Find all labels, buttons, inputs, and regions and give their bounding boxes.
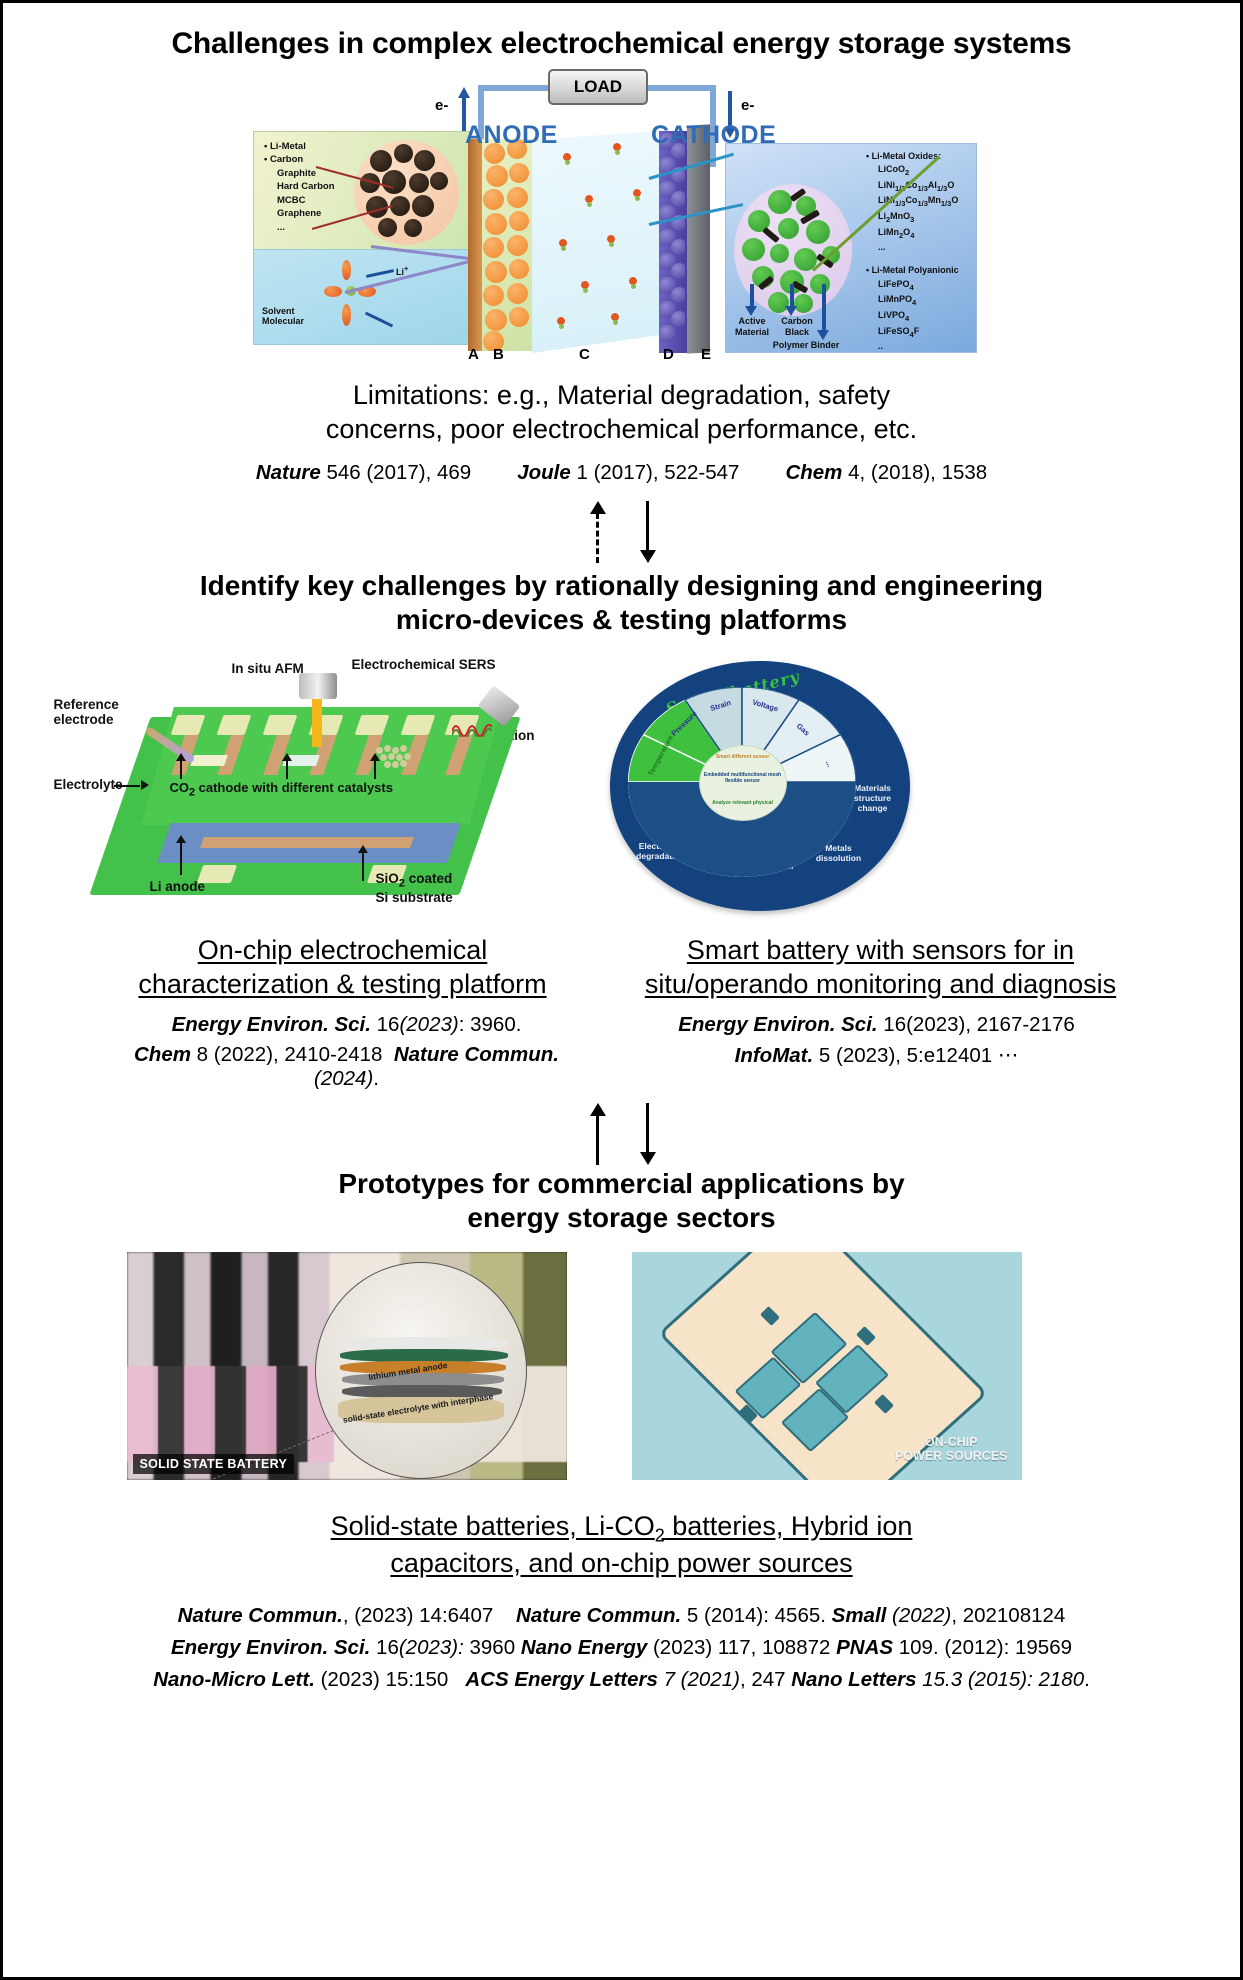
carbon-black-label: CarbonBlack [776,316,818,338]
axis-letter-a: A [468,346,479,363]
flow-arrows-2 [3,1103,1240,1165]
afm-tip-icon [299,673,337,699]
citation-joule: Joule 1 (2017), 522-547 [517,461,739,485]
hub-text-2: Embedded multifunctional mesh flexible s… [700,772,786,785]
section2-citation-row1: Energy Environ. Sci. 16(2023): 3960. Ene… [3,1013,1240,1037]
cathode-particles [659,131,685,353]
arrow-down-solid-1 [639,501,655,563]
section1-caption-line1: Limitations: e.g., Material degradation,… [3,379,1240,413]
caption-right-line2: situ/operando monitoring and diagnosis [626,968,1136,1002]
axis-letter-d: D [663,346,674,363]
electrolyte-label: Electrolyte [54,777,123,793]
axis-letter-b: B [493,346,504,363]
section3-heading-line1: Prototypes for commercial applications b… [3,1167,1240,1201]
reference-electrode-label: Referenceelectrode [54,697,119,728]
flow-arrows-1 [3,501,1240,563]
section3-caption-line2: capacitors, and on-chip power sources [3,1547,1240,1581]
cite-row-3: Nano-Micro Lett. (2023) 15:150 ACS Energ… [3,1664,1240,1696]
solid-state-battery-photo: lithium metal anode solid-state electrol… [127,1252,567,1480]
cathode-mat-9: LiFeSO4F [866,325,976,341]
cathode-group1-title: Li-Metal Oxides: [866,150,976,163]
circuit-wire-top-right [638,85,716,91]
solvent-label: SolventMolecular [262,306,304,326]
substrate-label: SiO2 coatedSi substrate [376,871,453,906]
electron-label-right: e- [741,97,754,114]
arrow-up-solid-2 [589,1103,605,1165]
cathode-materials-panel: Li-Metal Oxides: LiCoO2 LiNi1/3Co1/3Al1/… [725,143,977,353]
separator-electrolyte-region [532,131,659,353]
on-chip-power-source-photo: ON-CHIP POWER SOURCES [632,1252,1022,1480]
anode-materials-box: Li-Metal Carbon Graphite Hard Carbon MCB… [253,131,470,251]
cathode-mat-10: .. [866,340,976,353]
load-box: LOAD [548,69,648,105]
sers-label: Electrochemical SERS [352,657,496,673]
axis-letter-c: C [579,346,590,363]
cathode-mat-7: LiMnPO4 [866,293,976,309]
arrow-down-solid-2 [639,1103,655,1165]
arrow-up-dashed-1 [589,501,605,563]
smart-battery-wheel-diagram: Smart battery Interface dynamics Electro… [592,655,922,917]
citation-nature: Nature 546 (2017), 469 [256,461,471,485]
cathode-group2-title: Li-Metal Polyanionic [866,264,976,277]
cite-left-1: Energy Environ. Sci. 16(2023): 3960. [112,1013,582,1037]
axis-letter-e: E [701,346,711,363]
photo-right-caption-line2: POWER SOURCES [895,1449,1008,1463]
caption-left-line1: On-chip electrochemical [108,934,578,968]
catalyst-particles [374,745,414,771]
caption-right-line1: Smart battery with sensors for in [626,934,1136,968]
wheel-hub: Smart different sensor Embedded multifun… [699,745,787,821]
battery-schematic-diagram: LOAD e- e- ANODE CATHODE Li-Metal Carbon… [253,69,990,359]
photo-right-caption-line1: ON-CHIP [925,1435,978,1449]
wheel-inner-disc: Smart different sensor Embedded multifun… [628,687,856,877]
co2-cathode-label: CO2 cathode with different catalysts [170,781,393,799]
cathode-materials-list: Li-Metal Oxides: LiCoO2 LiNi1/3Co1/3Al1/… [866,150,976,353]
polymer-binder-label: Polymer Binder [762,340,850,351]
section2-heading-line1: Identify key challenges by rationally de… [3,569,1240,603]
cathode-mat-8: LiVPO4 [866,309,976,325]
section3-caption-line1: Solid-state batteries, Li-CO2 batteries,… [3,1510,1240,1547]
section1-citations: Nature 546 (2017), 469 Joule 1 (2017), 5… [3,461,1240,485]
cathode-mat-4: LiMn2O4 [866,226,976,242]
afm-beam [312,699,322,747]
anode-active-layer [482,139,532,351]
section1-caption-line2: concerns, poor electrochemical performan… [3,413,1240,447]
electron-label-left: e- [435,97,448,114]
electron-arrow-left-head [458,87,470,98]
section2-captions: On-chip electrochemical characterization… [3,934,1240,1002]
cite-right-1: Energy Environ. Sci. 16(2023), 2167-2176 [622,1013,1132,1037]
circuit-wire-top-left [478,85,558,91]
cathode-mat-5: ... [866,241,976,254]
carbon-particle-cluster [354,140,459,245]
photo-right-caption: ON-CHIP POWER SOURCES [895,1435,1008,1464]
li-anode-label: Li anode [150,879,206,895]
laser-squiggle-icon [452,717,492,737]
section2-heading-line2: micro-devices & testing platforms [3,603,1240,637]
on-chip-device-diagram: In situ AFM Electrochemical SERS Referen… [52,655,552,917]
active-material-label: ActiveMaterial [732,316,772,338]
cathode-mat-3: Li2MnO3 [866,210,976,226]
cite-row-1: Nature Commun., (2023) 14:6407 Nature Co… [3,1600,1240,1632]
caption-left-line2: characterization & testing platform [108,968,578,1002]
section2-citation-row2: Chem 8 (2022), 2410-2418 Nature Commun. … [3,1043,1240,1091]
cite-left-2: Chem 8 (2022), 2410-2418 Nature Commun. … [112,1043,582,1091]
anode-current-collector [468,139,482,351]
hub-text-3: Analyze relevant physical [700,800,786,806]
cathode-current-collector [687,124,710,353]
photo-left-caption: SOLID STATE BATTERY [133,1454,295,1474]
afm-label: In situ AFM [232,661,304,677]
hub-text-1: Smart different sensor [700,754,786,760]
anode-materials-panel: Li-Metal Carbon Graphite Hard Carbon MCB… [253,131,468,343]
section2-figures: In situ AFM Electrochemical SERS Referen… [32,655,1212,930]
section1-heading: Challenges in complex electrochemical en… [3,27,1240,61]
section3-citations: Nature Commun., (2023) 14:6407 Nature Co… [3,1600,1240,1695]
magnifier-inset: lithium metal anode solid-state electrol… [315,1262,527,1479]
electrolyte-box: SolventMolecular Li+ [253,249,470,345]
cathode-label: CATHODE [651,121,776,150]
anode-label: ANODE [465,121,558,150]
cite-right-2: InfoMat. 5 (2023), 5:e12401 ⋯ [622,1043,1132,1091]
cathode-mat-6: LiFePO4 [866,278,976,294]
citation-chem: Chem 4, (2018), 1538 [785,461,987,485]
cite-row-2: Energy Environ. Sci. 16(2023): 3960 Nano… [3,1632,1240,1664]
section3-photos: lithium metal anode solid-state electrol… [32,1252,1212,1492]
figure-page: Challenges in complex electrochemical en… [0,0,1243,1980]
cathode-mat-1: LiNi1/3Co1/3Al1/3O [866,179,976,195]
section3-heading-line2: energy storage sectors [3,1201,1240,1235]
